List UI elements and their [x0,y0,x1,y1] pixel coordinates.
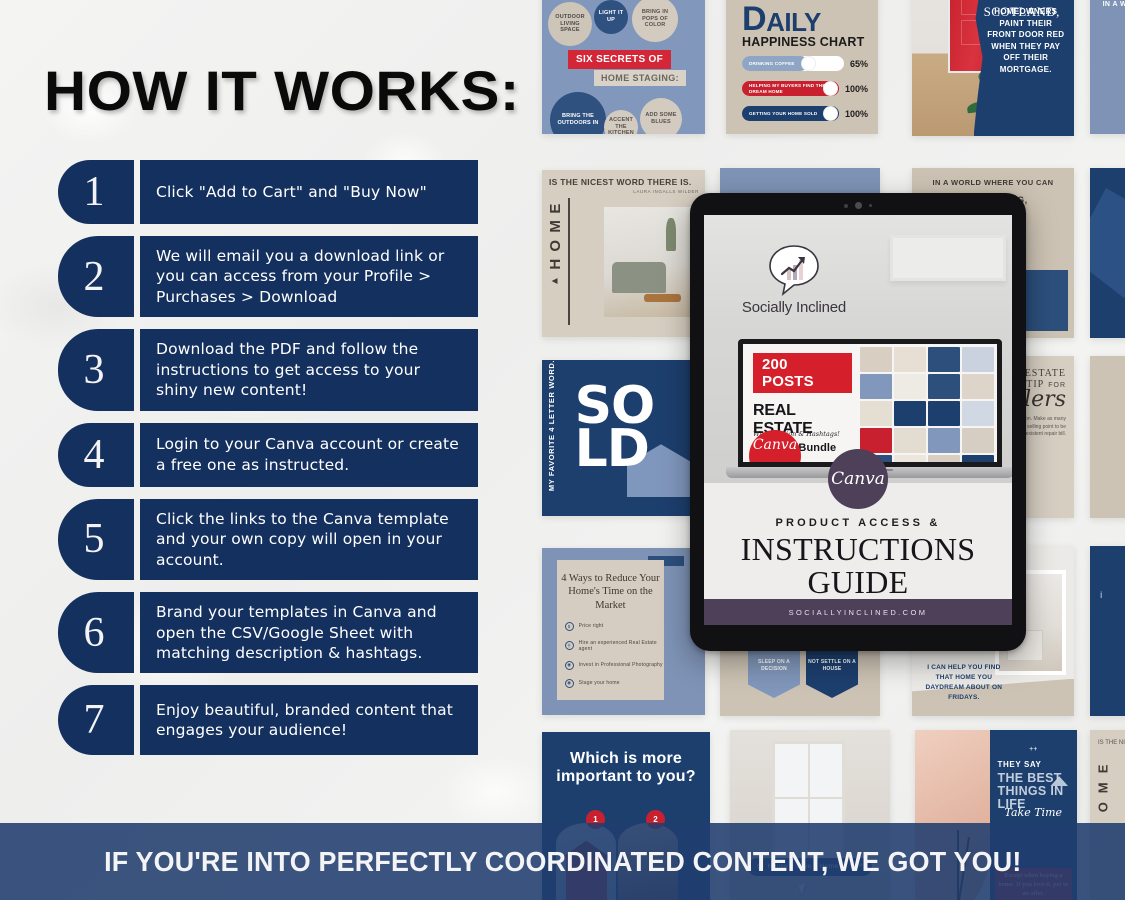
settle-banner: NOT SETTLE ON A HOUSE [806,650,858,698]
step-text: Enjoy beautiful, branded content that en… [140,685,478,755]
chart-row: DRINKING COFFEE [742,56,844,71]
banner-text: IF YOU'RE INTO PERFECTLY COORDINATED CON… [104,846,1021,878]
four-ways-item: ⚲ Hire an experienced Real Estate agent [557,640,665,652]
chart-row-pct: 65% [850,59,868,69]
step-row[interactable]: 7 Enjoy beautiful, branded content that … [58,685,478,755]
in-a-world-line1: IN A WORLD WHERE YOU CAN [920,178,1066,189]
step-row[interactable]: 6 Brand your templates in Canva and open… [58,592,478,673]
step-row[interactable]: 4 Login to your Canva account or create … [58,423,478,487]
tablet-mockup[interactable]: Socially Inclined 200 POSTS REAL ESTATE … [690,193,1026,651]
chart-row-label: GETTING YOUR HOME SOLD [742,111,817,117]
step-text: Login to your Canva account or create a … [140,423,478,487]
bubble-label: OUTDOOR LIVING SPACE [548,2,592,46]
tile-caption: IS THE NICEST WORD THERE IS. [1098,740,1125,746]
chart-row-pct: 100% [845,84,868,94]
tile-row1-right[interactable]: IN A WORLD WHERE YOU CAN [1090,0,1125,134]
camera-led-icon [869,204,872,207]
step-text: Click "Add to Cart" and "Buy Now" [140,160,478,224]
step-row[interactable]: 3 Download the PDF and follow the instru… [58,329,478,410]
step-number-badge: 7 [58,685,134,755]
tablet-camera-dots [844,202,872,209]
four-ways-item: ◉ Invest in Professional Photography [557,661,665,670]
bubble-label: BRING IN POPS OF COLOR [632,0,678,42]
speech-bubble-icon [767,243,821,297]
four-ways-item: $ Price right [557,622,665,631]
guide-kicker: PRODUCT ACCESS & [704,517,1012,529]
bubble-label: BRING THE OUTDOORS IN [550,92,606,134]
guide-title-line1: INSTRUCTIONS [704,533,1012,566]
chart-row-pct: 100% [845,109,868,119]
step-number-badge: 3 [58,329,134,410]
step-row[interactable]: 1 Click "Add to Cart" and "Buy Now" [58,160,478,224]
daydream-text: I CAN HELP YOU FIND THAT HOME YOU DAYDRE… [922,663,1006,702]
tablet-screen: Socially Inclined 200 POSTS REAL ESTATE … [704,215,1012,625]
camera-icon: ◉ [565,661,574,670]
they-say-text: THEY SAY [998,760,1042,769]
guide-title-block: Canva PRODUCT ACCESS & INSTRUCTIONS GUID… [704,483,1012,599]
step-text: Download the PDF and follow the instruct… [140,329,478,410]
bubble-label: ACCENT THE KITCHEN [604,110,638,134]
chart-row: HELPING MY BUYERS FIND THEIR DREAM HOME [742,81,839,96]
six-secrets-headline: SIX SECRETS OF [568,50,671,69]
bubble-label: ADD SOME BLUES [640,98,682,134]
fun-fact-body: HOMEOWNERS PAINT THEIR FRONT DOOR RED WH… [986,6,1066,76]
page-title: HOW IT WORKS: [44,58,520,123]
canva-badge: Canva [828,449,888,509]
chart-title-rest: AILY [766,11,821,34]
step-row[interactable]: 5 Click the links to the Canva template … [58,499,478,580]
which-question: Which is more important to you? [542,750,710,787]
four-ways-title: 4 Ways to Reduce Your Home's Time on the… [557,560,665,613]
six-secrets-subhead: HOME STAGING: [594,70,686,86]
tile-sold[interactable]: SO LD MY FAVORITE 4 LETTER WORD. [542,360,705,516]
search-icon: ⚲ [565,641,574,650]
bubble-label: LIGHT IT UP [594,0,628,34]
sold-text: SO LD [575,385,655,470]
tile-row4-right[interactable]: i [1090,546,1125,716]
steps-list: 1 Click "Add to Cart" and "Buy Now" 2 We… [58,160,478,767]
chart-subtitle: HAPPINESS CHART [742,35,864,49]
living-room-photo [604,207,699,317]
four-ways-paper: 4 Ways to Reduce Your Home's Time on the… [557,560,665,700]
tile-happiness-chart[interactable]: D AILY HAPPINESS CHART DRINKING COFFEE 6… [726,0,878,134]
guide-title-line2: GUIDE [704,566,1012,599]
chart-title-initial: D [742,4,766,35]
step-text: Click the links to the Canva template an… [140,499,478,580]
tile-row3-right[interactable] [1090,356,1125,518]
tablet-frame: Socially Inclined 200 POSTS REAL ESTATE … [690,193,1026,651]
camera-lens-icon [855,202,862,209]
bundle-cover-left: 200 POSTS REAL ESTATE Content Bundle Wit… [743,344,860,462]
tile-caption: IN A WORLD WHERE YOU CAN [1098,0,1125,21]
poster-root: OUTDOOR LIVING SPACE LIGHT IT UP BRING I… [0,0,1125,900]
tile-six-secrets[interactable]: OUTDOOR LIVING SPACE LIGHT IT UP BRING I… [542,0,705,134]
stage-icon: ◉ [565,679,574,688]
step-text: We will email you a download link or you… [140,236,478,317]
tile-home-nicest-word[interactable]: IS THE NICEST WORD THERE IS. LAURA INGAL… [542,170,705,337]
instructions-panel: HOW IT WORKS: 1 Click "Add to Cart" and … [0,0,540,900]
chart-row: GETTING YOUR HOME SOLD [742,106,839,121]
step-text: Brand your templates in Canva and open t… [140,592,478,673]
socially-inclined-logo: Socially Inclined [734,243,854,316]
tile-four-ways[interactable]: 4 Ways to Reduce Your Home's Time on the… [542,548,705,715]
step-number-badge: 6 [58,592,134,673]
camera-sensor-icon [844,204,848,208]
price-icon: $ [565,622,574,631]
sleep-banner: SLEEP ON A DECISION [748,650,800,698]
four-ways-item: ◉ Stage your home [557,679,665,688]
wall-shelf [890,235,1006,281]
home-word-vertical: E M O H ▲ [549,196,563,288]
home-word-top: IS THE NICEST WORD THERE IS. [549,177,692,187]
bundle-thumbnail-grid [860,344,997,462]
guide-cover-photo: Socially Inclined 200 POSTS REAL ESTATE … [704,215,1012,483]
tile-vertical-word: E M O [1098,760,1109,815]
chart-row-label: DRINKING COFFEE [742,61,795,67]
step-number-badge: 2 [58,236,134,317]
step-number-badge: 5 [58,499,134,580]
step-number-badge: 4 [58,423,134,487]
step-number-badge: 1 [58,160,134,224]
take-time-script: Take Time [990,806,1077,819]
tile-row2-right[interactable] [1090,168,1125,338]
fun-fact-panel: Fun fact: IN SCOTLAND, HOMEOWNERS PAINT … [974,0,1074,136]
laptop-screen: 200 POSTS REAL ESTATE Content Bundle Wit… [738,339,1002,467]
posts-count-badge: 200 POSTS [753,353,852,393]
step-row[interactable]: 2 We will email you a download link or y… [58,236,478,317]
brand-name: Socially Inclined [734,299,854,316]
sold-vertical-caption: MY FAVORITE 4 LETTER WORD. [547,360,557,491]
guide-footer-url: SOCIALLYINCLINED.COM [704,599,1012,625]
bottom-banner: IF YOU'RE INTO PERFECTLY COORDINATED CON… [0,823,1125,900]
